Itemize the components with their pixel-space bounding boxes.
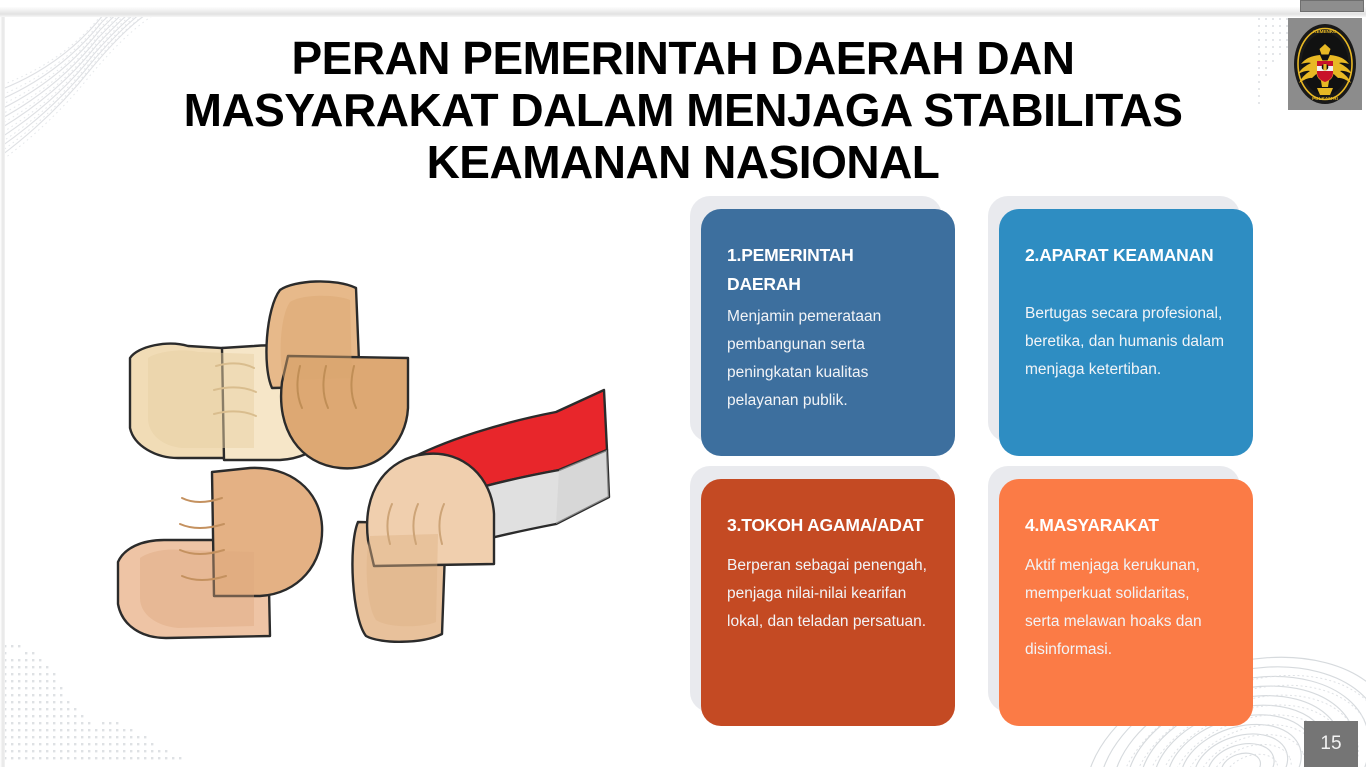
card-slot-4: 4.MASYARAKAT Aktif menjaga kerukunan, me… bbox=[988, 466, 1256, 728]
viewer-top-strip bbox=[0, 0, 1366, 7]
card-tokoh-agama-adat[interactable]: 3.TOKOH AGAMA/ADAT Berperan sebagai pene… bbox=[701, 479, 955, 726]
viewer-left-edge bbox=[0, 17, 5, 767]
card-slot-2: 2.APARAT KEAMANAN Bertugas secara profes… bbox=[988, 196, 1256, 458]
roles-card-grid: 1.PEMERINTAH DAERAH Menjamin pemerataan … bbox=[690, 196, 1280, 736]
card-body-4: Aktif menjaga kerukunan, memperkuat soli… bbox=[1025, 552, 1227, 664]
viewer-corner-button[interactable] bbox=[1300, 0, 1364, 12]
card-title-2: 2.APARAT KEAMANAN bbox=[1025, 241, 1227, 270]
viewer-top-band bbox=[0, 7, 1366, 17]
hand-right bbox=[118, 468, 322, 638]
card-masyarakat[interactable]: 4.MASYARAKAT Aktif menjaga kerukunan, me… bbox=[999, 479, 1253, 726]
hand-bottom bbox=[352, 454, 494, 642]
card-title-3: 3.TOKOH AGAMA/ADAT bbox=[727, 511, 929, 540]
svg-text:KEMENKO: KEMENKO bbox=[1313, 29, 1337, 34]
page-number-badge: 15 bbox=[1304, 721, 1358, 767]
title-line-3: KEAMANAN NASIONAL bbox=[60, 136, 1306, 188]
title-line-2: MASYARAKAT DALAM MENJAGA STABILITAS bbox=[60, 84, 1306, 136]
card-pemerintah-daerah[interactable]: 1.PEMERINTAH DAERAH Menjamin pemerataan … bbox=[701, 209, 955, 456]
four-hands-unity-illustration bbox=[104, 262, 624, 654]
presentation-slide: KEMENKO POLKAM RI PERAN PEMERINTAH DAERA… bbox=[0, 0, 1366, 767]
card-title-1: 1.PEMERINTAH DAERAH bbox=[727, 241, 929, 299]
card-slot-3: 3.TOKOH AGAMA/ADAT Berperan sebagai pene… bbox=[690, 466, 958, 728]
svg-text:POLKAM RI: POLKAM RI bbox=[1312, 96, 1338, 101]
card-title-4: 4.MASYARAKAT bbox=[1025, 511, 1227, 540]
title-line-1: PERAN PEMERINTAH DAERAH DAN bbox=[60, 32, 1306, 84]
card-body-3: Berperan sebagai penengah, penjaga nilai… bbox=[727, 552, 929, 636]
card-body-1: Menjamin pemerataan pembangunan serta pe… bbox=[727, 303, 929, 415]
card-aparat-keamanan[interactable]: 2.APARAT KEAMANAN Bertugas secara profes… bbox=[999, 209, 1253, 456]
page-title: PERAN PEMERINTAH DAERAH DAN MASYARAKAT D… bbox=[0, 32, 1366, 188]
kemenko-polkam-logo: KEMENKO POLKAM RI bbox=[1288, 18, 1362, 110]
garuda-emblem-icon: KEMENKO POLKAM RI bbox=[1290, 20, 1360, 108]
card-slot-1: 1.PEMERINTAH DAERAH Menjamin pemerataan … bbox=[690, 196, 958, 458]
card-body-2: Bertugas secara profesional, beretika, d… bbox=[1025, 300, 1227, 384]
